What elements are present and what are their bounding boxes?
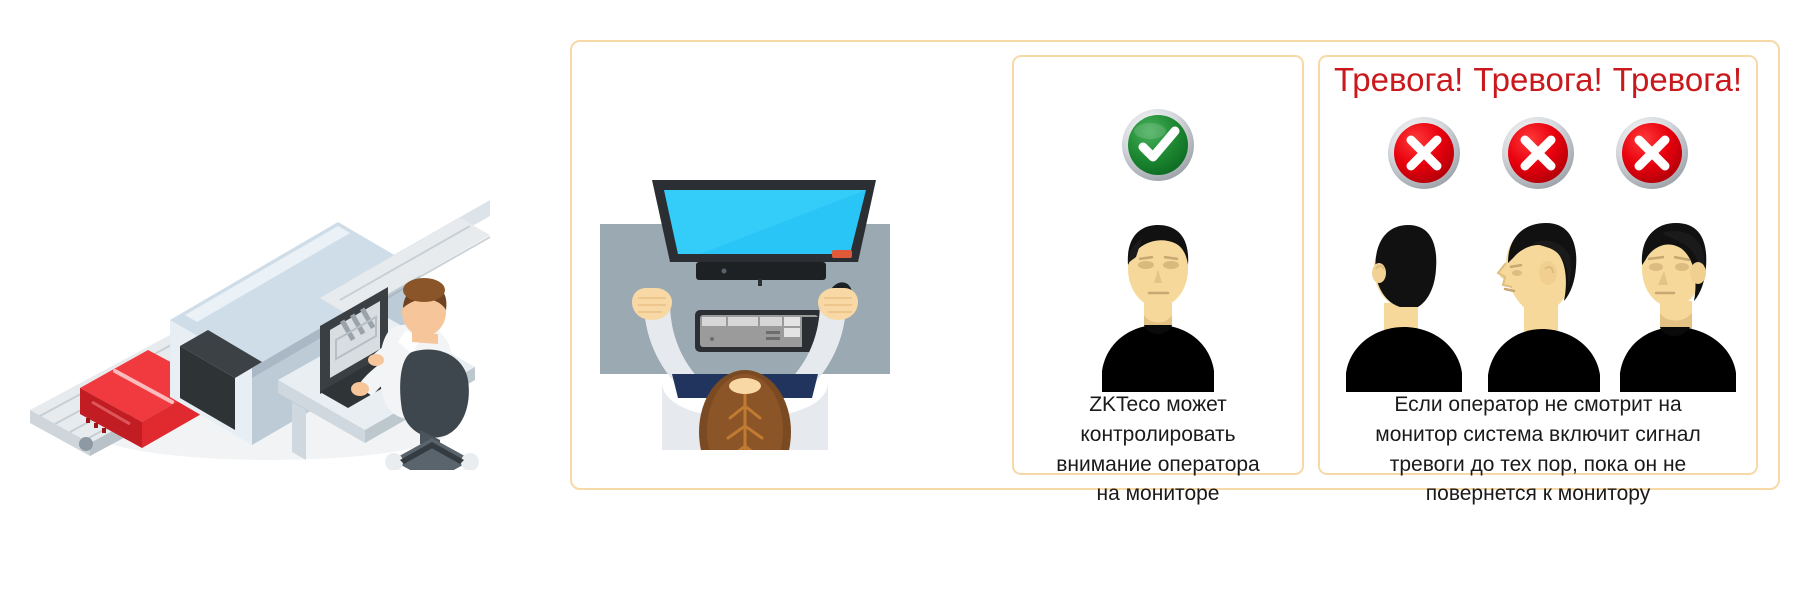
alarm-headings-row: Тревога! Тревога! Тревога! — [1320, 63, 1756, 96]
caption-line: ZKTeco может — [1026, 390, 1290, 420]
caption-line: на мониторе — [1026, 479, 1290, 509]
caption-line: контролировать — [1026, 420, 1290, 450]
caption-line: внимание оператора — [1026, 450, 1290, 480]
keyboard — [695, 310, 823, 352]
caption-line: тревоги до тех пор, пока он не — [1340, 450, 1736, 480]
caption-line: Если оператор не смотрит на — [1340, 390, 1736, 420]
red-x-badge-icon — [1614, 115, 1690, 191]
attention-ok-panel: ZKTeco может контролировать внимание опе… — [1012, 55, 1304, 475]
alarm-heading: Тревога! — [1613, 63, 1742, 96]
operator-three-quarter-figure — [1610, 207, 1742, 392]
alarm-heading: Тревога! — [1334, 63, 1463, 96]
red-x-badge-icon — [1386, 115, 1462, 191]
red-x-badge-icon — [1500, 115, 1576, 191]
caption-line: повернется к монитору — [1340, 479, 1736, 509]
caption-line: монитор система включит сигнал — [1340, 420, 1736, 450]
ok-panel-caption: ZKTeco может контролировать внимание опе… — [1014, 390, 1302, 509]
attention-alarm-panel: Тревога! Тревога! Тревога! — [1318, 55, 1758, 475]
operator-facing-monitor-figure — [1092, 207, 1224, 392]
ok-badge-row — [1014, 107, 1302, 183]
green-check-badge-icon — [1120, 107, 1196, 183]
alarm-badge-row — [1320, 115, 1756, 191]
operator-profile-figure — [1472, 207, 1604, 392]
infographic-canvas: ZKTeco может контролировать внимание опе… — [0, 0, 1800, 600]
operator-back-turned-figure — [1334, 207, 1466, 392]
xray-baggage-scanner-illustration — [20, 130, 490, 470]
alarm-heading: Тревога! — [1473, 63, 1602, 96]
alarm-figure-row — [1320, 207, 1756, 392]
alarm-panel-caption: Если оператор не смотрит на монитор сист… — [1320, 390, 1756, 509]
operator-workstation-illustration — [600, 150, 890, 450]
ok-figure-row — [1014, 207, 1302, 392]
